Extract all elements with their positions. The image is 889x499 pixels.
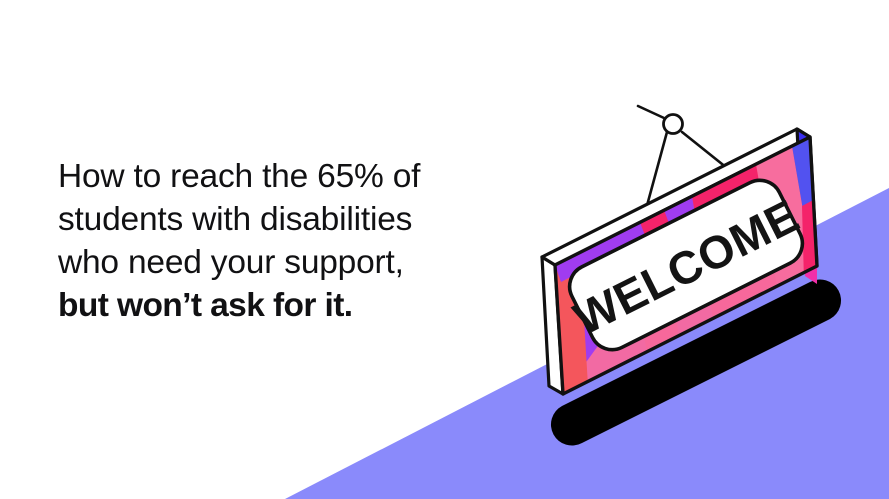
welcome-sign-illustration: WELCOME bbox=[540, 96, 889, 426]
hook-ring-icon bbox=[664, 115, 683, 134]
cord-top-left bbox=[638, 106, 664, 118]
page-headline: How to reach the 65% of students with di… bbox=[58, 155, 478, 327]
headline-line-4: but won’t ask for it. bbox=[58, 284, 478, 327]
headline-line-1: How to reach the 65% of bbox=[58, 155, 478, 198]
headline-line-3: who need your support, bbox=[58, 241, 478, 284]
slide-canvas: How to reach the 65% of students with di… bbox=[0, 0, 889, 499]
headline-line-2: students with disabilities bbox=[58, 198, 478, 241]
